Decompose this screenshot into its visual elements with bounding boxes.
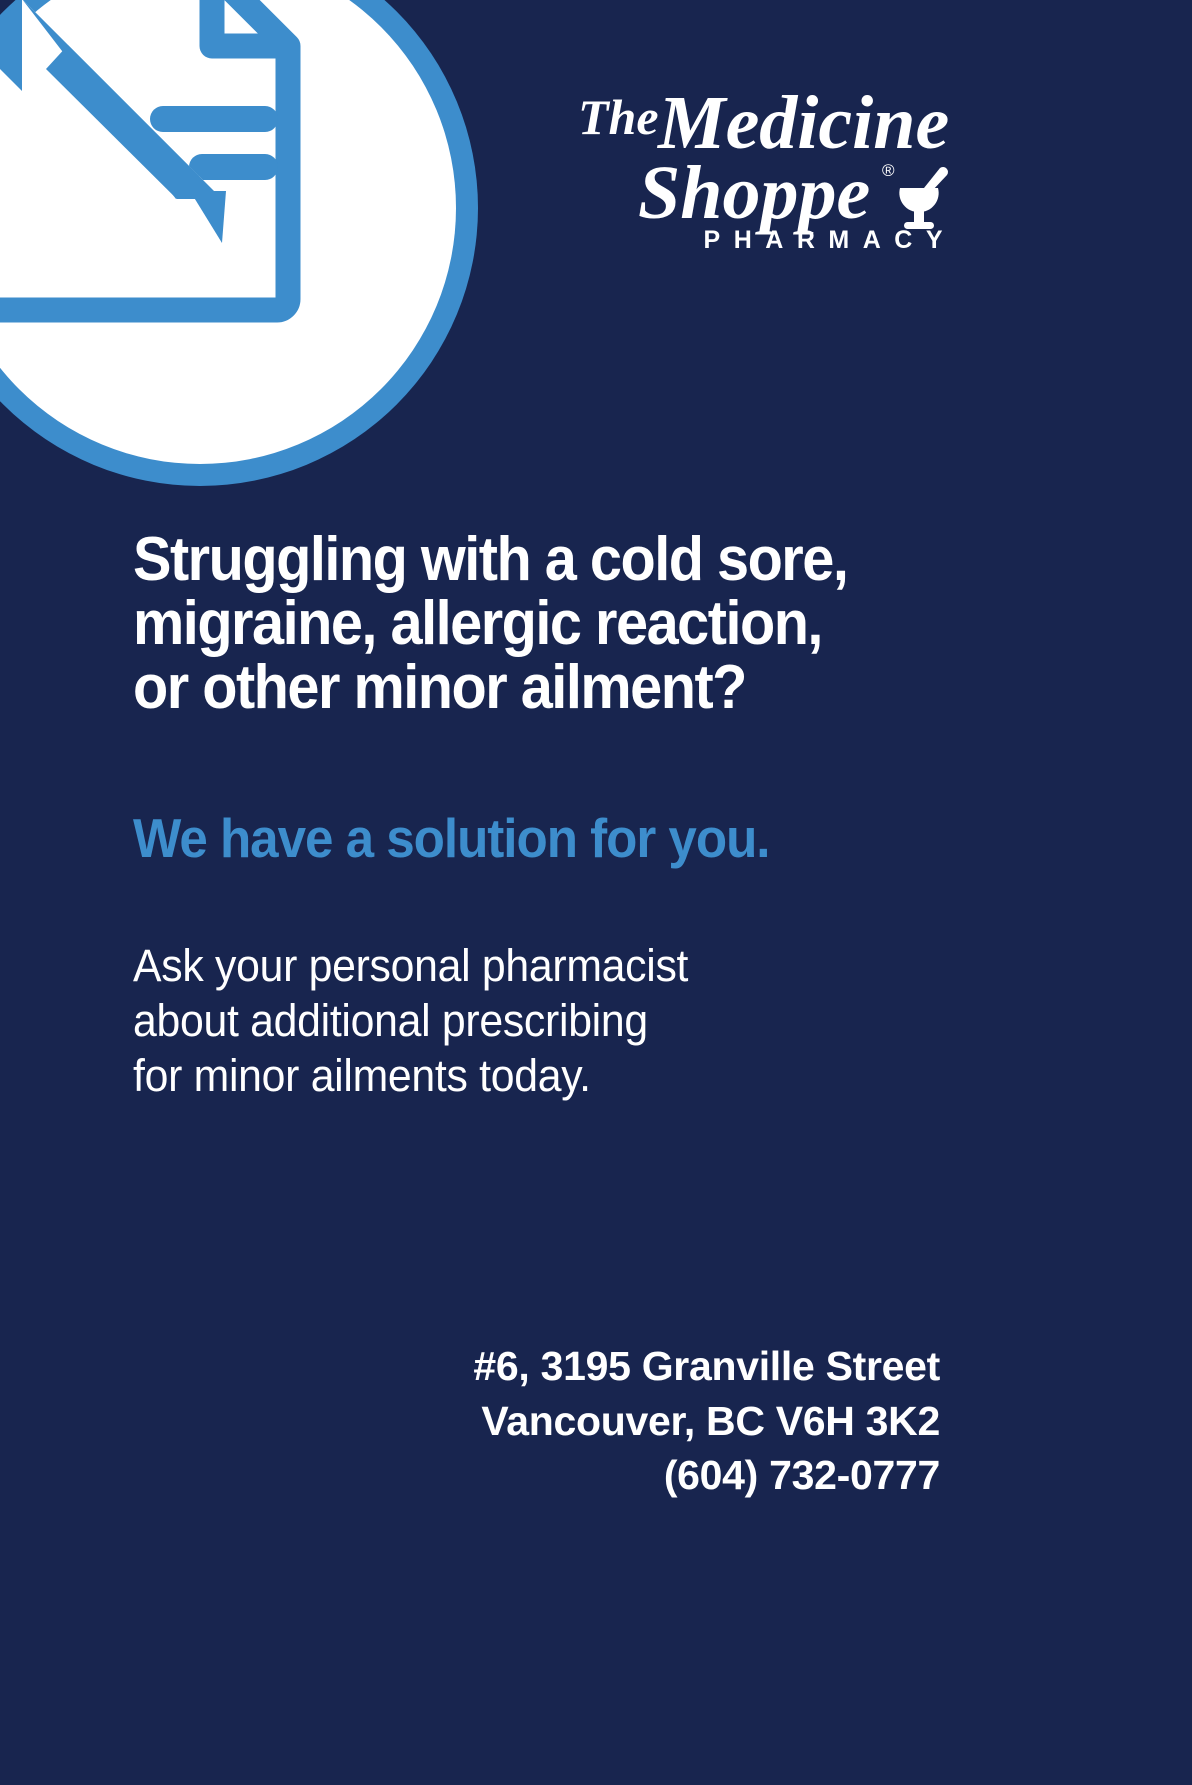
body-line-2: about additional prescribing [133,994,969,1049]
phone-number[interactable]: (604) 732-0777 [473,1448,940,1503]
logo-line-shoppe: Shoppe [638,151,870,235]
logo-tagline-pharmacy: PHARMACY [560,226,960,255]
headline-line-1: Struggling with a cold sore, [133,528,886,592]
poster-canvas: The Medicine Shoppe ® PHARMACY Strugglin… [0,0,1192,1785]
headline-line-3: or other minor ailment? [133,656,886,720]
address-city-province-postal: Vancouver, BC V6H 3K2 [473,1394,940,1449]
brand-logo: The Medicine Shoppe ® PHARMACY [560,78,960,268]
mortar-and-pestle-icon [899,167,948,229]
headline-line-2: migraine, allergic reaction, [133,592,886,656]
address-street: #6, 3195 Granville Street [473,1339,940,1394]
badge [0,0,478,486]
body-copy: Ask your personal pharmacist about addit… [133,867,969,1104]
registered-mark-icon: ® [882,161,895,180]
body-line-3: for minor ailments today. [133,1049,969,1104]
prescription-document-pencil-icon [0,0,434,418]
brand-logo-script: The Medicine Shoppe ® [560,78,960,238]
subheadline: We have a solution for you. [133,720,951,868]
address-block: #6, 3195 Granville Street Vancouver, BC … [473,1339,940,1503]
message-block: Struggling with a cold sore, migraine, a… [133,528,1013,1104]
page-headline: Struggling with a cold sore, migraine, a… [133,528,886,720]
body-line-1: Ask your personal pharmacist [133,939,969,994]
logo-line-the: The [578,89,659,145]
